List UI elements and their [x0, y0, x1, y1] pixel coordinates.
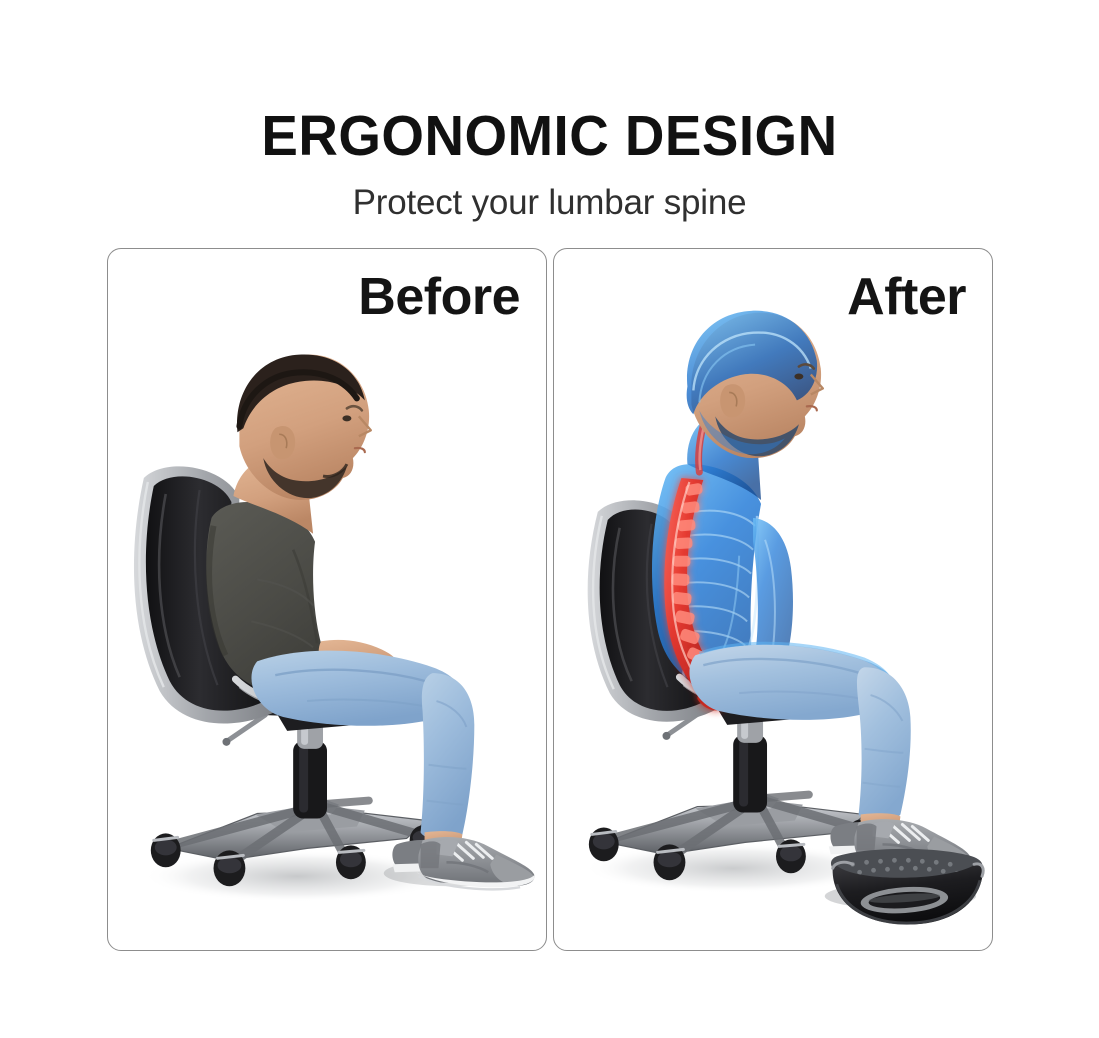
person-before	[206, 354, 534, 889]
page-subtitle: Protect your lumbar spine	[0, 165, 1099, 220]
chair-caster	[776, 839, 806, 873]
after-scene-svg	[554, 249, 992, 950]
after-label: After	[847, 271, 966, 323]
before-label: Before	[358, 271, 520, 323]
head	[237, 354, 371, 499]
before-panel: Before	[107, 248, 547, 951]
page-title: ERGONOMIC DESIGN	[22, 108, 1077, 165]
after-panel: After	[553, 248, 993, 951]
shoe-front	[417, 837, 535, 889]
chair-caster	[654, 844, 686, 880]
header: ERGONOMIC DESIGN Protect your lumbar spi…	[0, 108, 1099, 220]
chair-caster	[151, 833, 181, 867]
chair-caster	[336, 845, 366, 879]
after-illustration	[554, 249, 992, 950]
comparison-panels: Before	[107, 248, 993, 951]
ergonomic-design-infographic: ERGONOMIC DESIGN Protect your lumbar spi…	[0, 0, 1099, 1038]
chair-caster	[214, 850, 246, 886]
before-scene-svg	[108, 249, 546, 950]
chair-gas-cylinder	[293, 719, 327, 819]
jeans-shin	[421, 673, 475, 840]
before-illustration	[108, 249, 546, 950]
chair-caster	[589, 827, 619, 861]
chair-gas-cylinder	[733, 713, 767, 813]
jeans-shin	[857, 667, 911, 822]
rocking-footrest	[831, 849, 983, 925]
